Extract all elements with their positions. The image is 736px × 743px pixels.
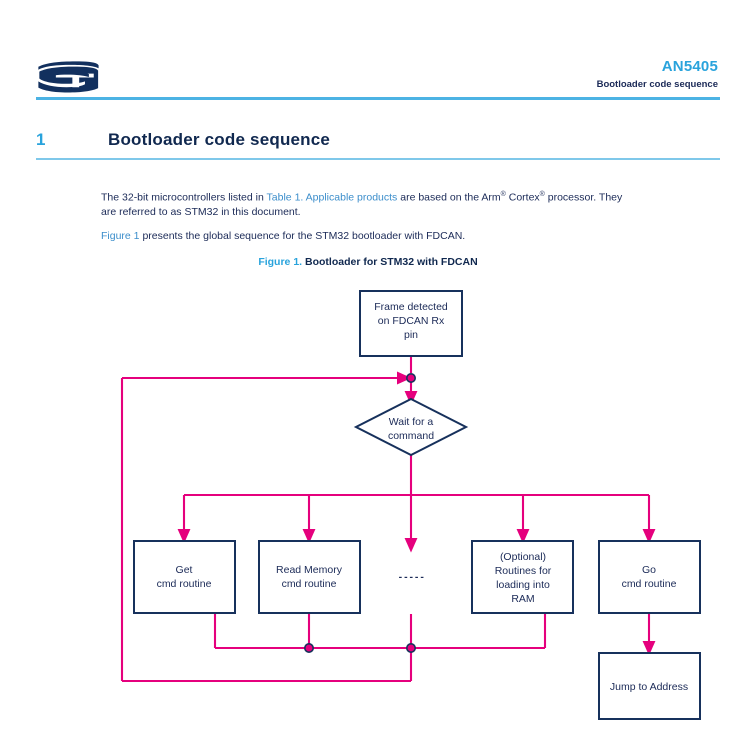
node-optional-line-1: (Optional) bbox=[500, 551, 546, 563]
node-jump-line-1: Jump to Address bbox=[610, 681, 688, 693]
paragraph-1-line-2: are referred to as STM32 in this documen… bbox=[101, 205, 719, 220]
link-table-1[interactable]: Table 1. Applicable products bbox=[267, 192, 398, 204]
flow-connectors bbox=[122, 356, 649, 681]
node-optional-line-2: Routines for bbox=[495, 565, 552, 577]
link-figure-1[interactable]: Figure 1 bbox=[101, 230, 140, 242]
node-wait-for-command[interactable]: Wait for a command bbox=[356, 399, 466, 455]
node-wait-line-2: command bbox=[388, 430, 434, 442]
section-rule bbox=[36, 158, 720, 160]
junction-dot-readmem bbox=[305, 644, 313, 652]
node-readmem-line-2: cmd routine bbox=[282, 578, 337, 590]
figure-caption-text: Bootloader for STM32 with FDCAN bbox=[305, 256, 478, 268]
node-frame-detected-line-2: on FDCAN Rx bbox=[378, 315, 445, 327]
junction-dot-center bbox=[407, 644, 415, 652]
node-frame-detected-line-1: Frame detected bbox=[374, 301, 448, 313]
node-readmem-line-1: Read Memory bbox=[276, 564, 343, 576]
node-optional-line-3: loading into bbox=[496, 579, 550, 591]
node-get-line-1: Get bbox=[176, 564, 193, 576]
node-wait-line-1: Wait for a bbox=[389, 416, 434, 428]
node-go-cmd-routine[interactable]: Go cmd routine bbox=[599, 541, 700, 613]
doc-number: AN5405 bbox=[597, 58, 718, 77]
node-read-memory-cmd-routine[interactable]: Read Memory cmd routine bbox=[259, 541, 360, 613]
figure-caption-number: Figure 1. bbox=[258, 256, 302, 268]
header-doc-info: AN5405 Bootloader code sequence bbox=[597, 58, 718, 91]
p1-part-d: processor. They bbox=[545, 192, 622, 204]
figure-caption: Figure 1. Bootloader for STM32 with FDCA… bbox=[0, 256, 736, 268]
p2-rest: presents the global sequence for the STM… bbox=[140, 230, 466, 242]
node-optional-line-4: RAM bbox=[511, 593, 534, 605]
node-get-cmd-routine[interactable]: Get cmd routine bbox=[134, 541, 235, 613]
body-text: The 32-bit microcontrollers listed in Ta… bbox=[101, 188, 719, 243]
flowchart-diagram: Frame detected on FDCAN Rx pin Wait for … bbox=[0, 278, 736, 738]
flow-nodes: Frame detected on FDCAN Rx pin Wait for … bbox=[134, 291, 700, 719]
node-frame-detected-line-3: pin bbox=[404, 329, 418, 341]
node-get-line-2: cmd routine bbox=[157, 578, 212, 590]
section-heading: 1 Bootloader code sequence bbox=[36, 130, 720, 160]
node-jump-to-address[interactable]: Jump to Address bbox=[599, 653, 700, 719]
junction-dot-top bbox=[407, 374, 415, 382]
section-number: 1 bbox=[36, 130, 108, 150]
ellipsis-dashes: - - - - - bbox=[399, 571, 425, 583]
p1-part-a: The 32-bit microcontrollers listed in bbox=[101, 192, 267, 204]
node-optional-routines[interactable]: (Optional) Routines for loading into RAM bbox=[472, 541, 573, 613]
paragraph-gap bbox=[101, 220, 719, 229]
p1-part-c: Cortex bbox=[506, 192, 540, 204]
st-logo bbox=[36, 60, 100, 94]
page-title: Bootloader code sequence bbox=[108, 130, 330, 150]
paragraph-2: Figure 1 presents the global sequence fo… bbox=[101, 229, 719, 244]
node-go-line-1: Go bbox=[642, 564, 656, 576]
p1-part-b: are based on the Arm bbox=[397, 192, 500, 204]
paragraph-1: The 32-bit microcontrollers listed in Ta… bbox=[101, 188, 719, 205]
node-go-line-2: cmd routine bbox=[622, 578, 677, 590]
node-frame-detected[interactable]: Frame detected on FDCAN Rx pin bbox=[360, 291, 462, 356]
header-rule bbox=[36, 97, 720, 100]
page-header: AN5405 Bootloader code sequence bbox=[0, 0, 736, 100]
doc-subtitle: Bootloader code sequence bbox=[597, 79, 718, 91]
